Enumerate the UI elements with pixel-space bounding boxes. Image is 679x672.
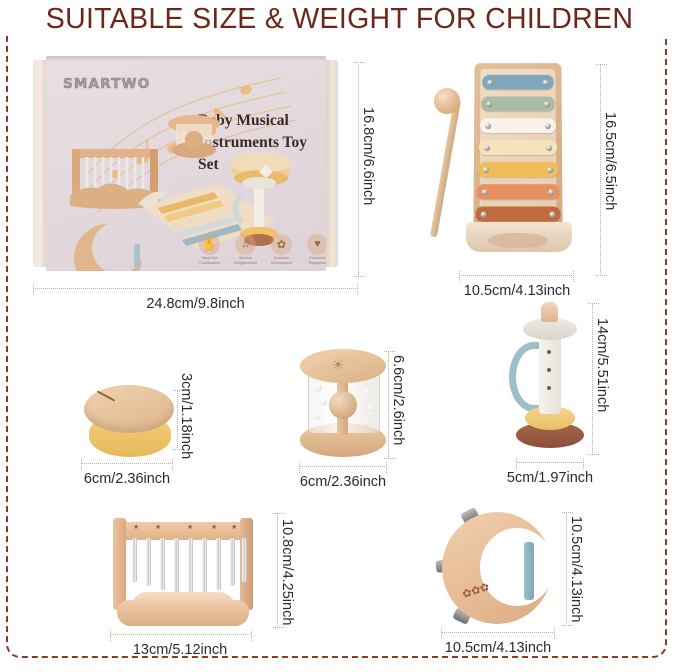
rattle-wooden-ball (329, 391, 357, 419)
xylophone-height-label: 16.5cm/6.5inch (602, 112, 618, 210)
bar-pin-left (482, 189, 488, 195)
bar-pin-left (486, 101, 492, 107)
xylophone-frame (473, 63, 562, 231)
page-title: SUITABLE SIZE & WEIGHT FOR CHILDREN (0, 2, 679, 36)
bar-pin-right (547, 167, 553, 173)
moon-crescent-cutout (480, 528, 554, 606)
rattle-height-dimension-line (388, 351, 389, 459)
xylophone-bar-1 (482, 75, 553, 90)
moon-height-label: 10.5cm/4.13inch (568, 516, 584, 622)
box-height-label: 16.8cm/6.6inch (360, 107, 376, 205)
box-right-flap (324, 60, 338, 267)
moon-tambourine-toy: ✿✿✿ (440, 510, 565, 630)
chime-metal-bar (216, 538, 221, 590)
illustration-moon-tambourine (74, 224, 142, 271)
xylophone-mallet-head (434, 88, 460, 114)
chime-metal-bar (230, 538, 235, 586)
hand-icon: ✋ (199, 234, 220, 255)
rattle-bead (315, 385, 322, 392)
feature-creativity-development: ✿ Creativity Development (268, 234, 295, 265)
xylophone-height-dimension-line (600, 64, 601, 276)
whistle-hole (547, 386, 551, 390)
castanet-toy (80, 383, 180, 461)
bar-pin-left (487, 79, 493, 85)
chime-base (117, 600, 249, 626)
music-note-icon: ♫ (235, 234, 256, 255)
illustration-rattle (168, 115, 220, 158)
chime-width-label: 13cm/5.12inch (100, 642, 260, 658)
moon-width-label: 10.5cm/4.13inch (428, 640, 568, 656)
xylophone-bar-5 (478, 162, 558, 177)
rattle-bead (368, 405, 375, 412)
chime-left-post (113, 518, 126, 610)
star-decoration-icon: ★ (155, 523, 161, 531)
xylophone-bar-3 (480, 118, 556, 133)
xylophone-bar-7 (476, 206, 561, 221)
bar-pin-left (483, 167, 489, 173)
moon-width-dimension-line (441, 632, 555, 633)
moon-height-dimension-line (566, 512, 567, 626)
rattle-height-label: 6.6cm/2.6inch (390, 355, 406, 445)
xylophone-mallet-stick (430, 98, 461, 237)
whistle-width-dimension-line (516, 462, 584, 463)
whistle-hole (547, 368, 551, 372)
infographic-page: SUITABLE SIZE & WEIGHT FOR CHILDREN (0, 0, 679, 672)
whistle-hole (547, 350, 551, 354)
page-title-text: SUITABLE SIZE & WEIGHT FOR CHILDREN (40, 2, 639, 36)
heart-icon: ♥ (307, 234, 326, 255)
chime-metal-bar (160, 538, 165, 590)
whistle-flute-toy (505, 302, 595, 457)
rattle-bead (314, 413, 321, 420)
feature-hand-eye-coordination: ✋ Hand-Eye Coordination (196, 234, 223, 265)
xylophone-width-label: 10.5cm/4.13inch (452, 283, 582, 299)
rattle-bead (364, 389, 371, 396)
feature-emotional-regulation: ♥ Emotional Regulation (304, 234, 326, 265)
xylophone-bar-2 (481, 96, 555, 111)
star-decoration-icon: ★ (231, 523, 237, 531)
chime-metal-bar (146, 538, 151, 586)
bar-pin-right (545, 123, 551, 129)
castanet-width-label: 6cm/2.36inch (72, 471, 182, 487)
box-width-dimension-line (33, 288, 358, 289)
chime-width-dimension-line (110, 634, 252, 635)
whistle-height-label: 14cm/5.51inch (594, 318, 610, 412)
bar-pin-right (548, 189, 554, 195)
bar-pin-right (543, 79, 549, 85)
bar-pin-left (481, 211, 487, 217)
whistle-height-dimension-line (592, 303, 593, 455)
chime-metal-bar (242, 538, 247, 582)
xylophone-toy (432, 62, 602, 277)
whistle-body (539, 332, 561, 414)
xylophone-cloud-base (466, 222, 572, 252)
feature-label: Hand-Eye Coordination (196, 256, 223, 265)
xylophone-bar-4 (479, 140, 557, 155)
sun-engraving-icon: ☀ (324, 357, 352, 374)
chime-height-label: 10.8cm/4.25inch (279, 519, 295, 625)
feature-label: Musical Enlightenment (232, 256, 259, 265)
whistle-width-label: 5cm/1.97inch (500, 470, 600, 486)
star-decoration-icon: ★ (187, 523, 193, 531)
feature-musical-enlightenment: ♫ Musical Enlightenment (232, 234, 259, 265)
castanet-height-label: 3cm/1.18inch (178, 373, 194, 459)
chime-stand-toy: ★ ★ ★ ★ ★ (103, 510, 263, 630)
box-height-dimension-line (358, 62, 359, 277)
chime-metal-bar (188, 538, 193, 596)
bar-pin-left (484, 145, 490, 151)
xylophone-bar-6 (477, 184, 560, 199)
xylophone-width-dimension-line (459, 275, 574, 276)
star-decoration-icon: ★ (133, 523, 139, 531)
castanet-width-dimension-line (81, 463, 173, 464)
bar-pin-right (549, 211, 555, 217)
product-packaging-box: SMARTWO Baby Musical Instruments Toy Set (33, 56, 338, 271)
chime-metal-bar (202, 538, 207, 594)
rattle-bead (320, 399, 327, 406)
lightbulb-head-icon: ✿ (271, 234, 292, 255)
feature-label: Emotional Regulation (304, 256, 326, 265)
rolling-rattle-toy: ☀ (298, 349, 390, 461)
bar-pin-left (485, 123, 491, 129)
chime-height-dimension-line (277, 513, 278, 628)
box-feature-icon-row: ✋ Hand-Eye Coordination ♫ Musical Enligh… (196, 234, 326, 265)
chime-metal-bar (132, 538, 137, 582)
rattle-width-dimension-line (299, 466, 387, 467)
moon-blue-bar (524, 542, 534, 600)
feature-label: Creativity Development (268, 256, 295, 265)
chime-metal-bar (174, 538, 179, 594)
bar-pin-right (546, 145, 552, 151)
whistle-mouthpiece (541, 302, 558, 322)
rattle-width-label: 6cm/2.36inch (288, 474, 398, 490)
star-decoration-icon: ★ (211, 523, 217, 531)
box-width-label: 24.8cm/9.8inch (33, 296, 358, 312)
bar-pin-right (544, 101, 550, 107)
box-front-face: SMARTWO Baby Musical Instruments Toy Set (46, 56, 326, 271)
rattle-bead (363, 419, 370, 426)
